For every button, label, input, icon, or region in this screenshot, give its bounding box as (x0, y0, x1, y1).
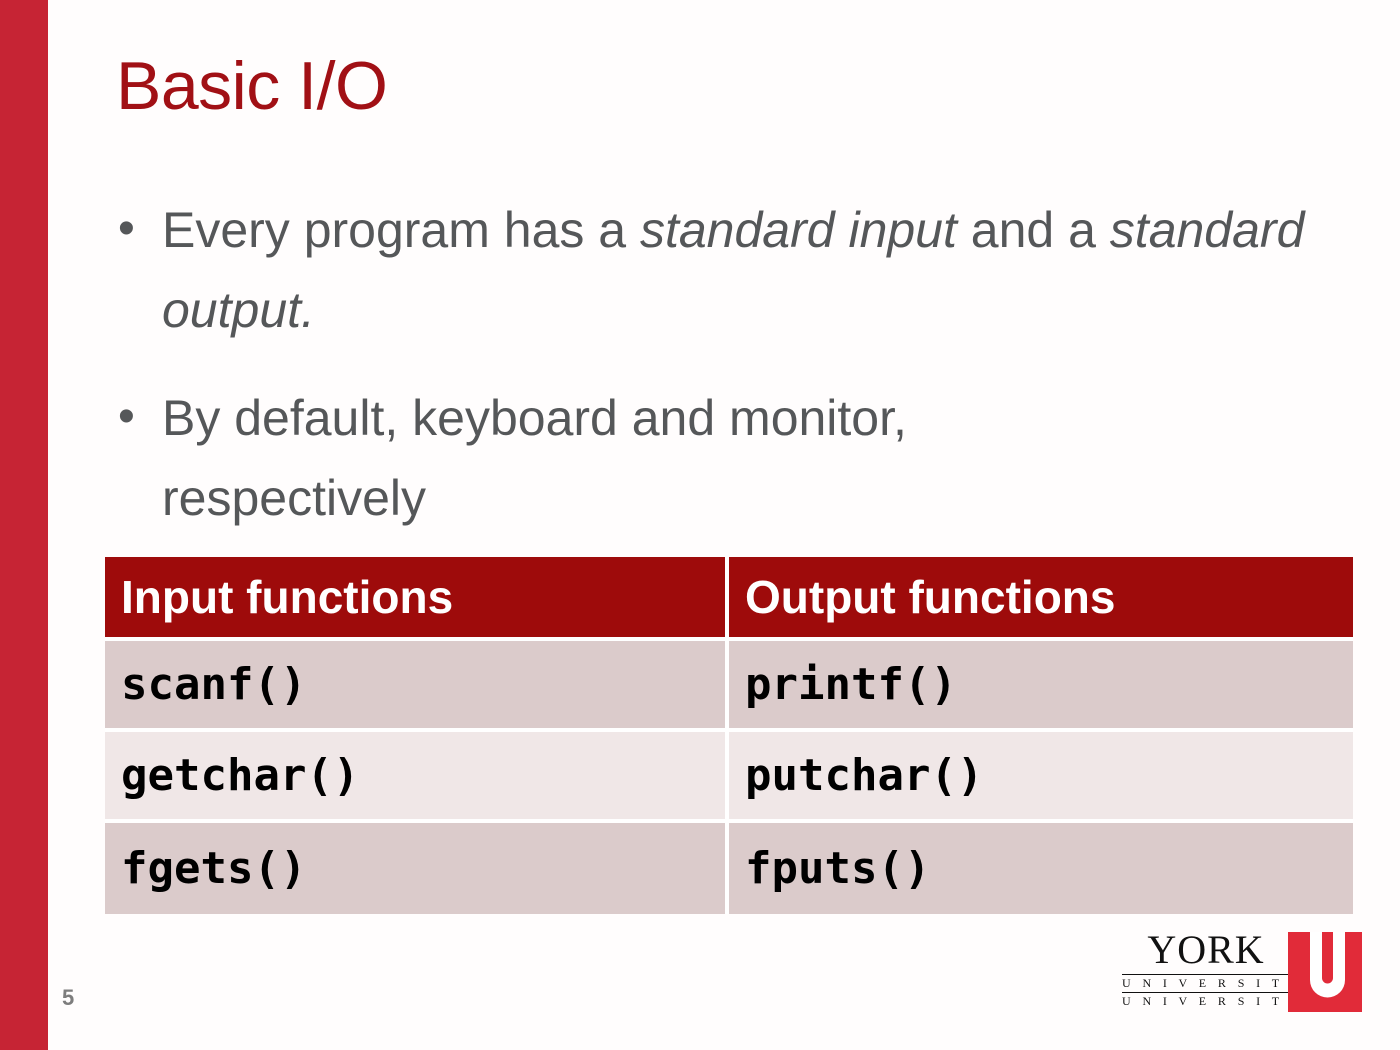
table-body: scanf() printf() getchar() putchar() fge… (105, 641, 1353, 914)
cell-input-function: getchar() (105, 732, 729, 823)
cell-output-function: printf() (729, 641, 1353, 732)
cell-output-function: fputs() (729, 823, 1353, 914)
table-header-row: Input functions Output functions (105, 557, 1353, 641)
table-row: scanf() printf() (105, 641, 1353, 732)
york-tagline-en: U N I V E R S I T Y (1122, 994, 1290, 1009)
column-header-input-functions: Input functions (105, 557, 729, 641)
bullet-segment-emphasis: standard input (640, 202, 957, 258)
table-row: getchar() putchar() (105, 732, 1353, 823)
york-logo-text: YORK U N I V E R S I T É U N I V E R S I… (1122, 928, 1290, 1009)
bullet-text: Every program has a standard input and a… (162, 190, 1350, 350)
page-title: Basic I/O (116, 52, 387, 120)
left-accent-bar (0, 0, 48, 1050)
cell-input-function: fgets() (105, 823, 729, 914)
bullet-dot-icon: • (110, 190, 162, 268)
bullet-segment: and a (957, 202, 1110, 258)
cell-input-function: scanf() (105, 641, 729, 732)
york-wordmark: YORK (1122, 928, 1290, 972)
bullet-list: • Every program has a standard input and… (110, 190, 1350, 566)
list-item: • Every program has a standard input and… (110, 190, 1350, 350)
column-header-output-functions: Output functions (729, 557, 1353, 641)
cell-output-function: putchar() (729, 732, 1353, 823)
bullet-dot-icon: • (110, 378, 162, 456)
bullet-segment: By default, keyboard and monitor, respec… (162, 390, 907, 526)
list-item: • By default, keyboard and monitor, resp… (110, 378, 1350, 538)
page-number: 5 (62, 985, 74, 1011)
table-header: Input functions Output functions (105, 557, 1353, 641)
io-functions-table: Input functions Output functions scanf()… (105, 557, 1353, 914)
bullet-segment: Every program has a (162, 202, 640, 258)
york-u-block-icon (1288, 932, 1362, 1012)
york-university-logo: YORK U N I V E R S I T É U N I V E R S I… (1122, 928, 1362, 1016)
bullet-text: By default, keyboard and monitor, respec… (162, 378, 1142, 538)
york-tagline: U N I V E R S I T É U N I V E R S I T Y (1122, 974, 1290, 1009)
slide: Basic I/O • Every program has a standard… (0, 0, 1400, 1050)
york-rule-top (1122, 974, 1290, 975)
table-row: fgets() fputs() (105, 823, 1353, 914)
york-tagline-fr: U N I V E R S I T É (1122, 976, 1290, 991)
york-rule-middle (1122, 992, 1290, 993)
